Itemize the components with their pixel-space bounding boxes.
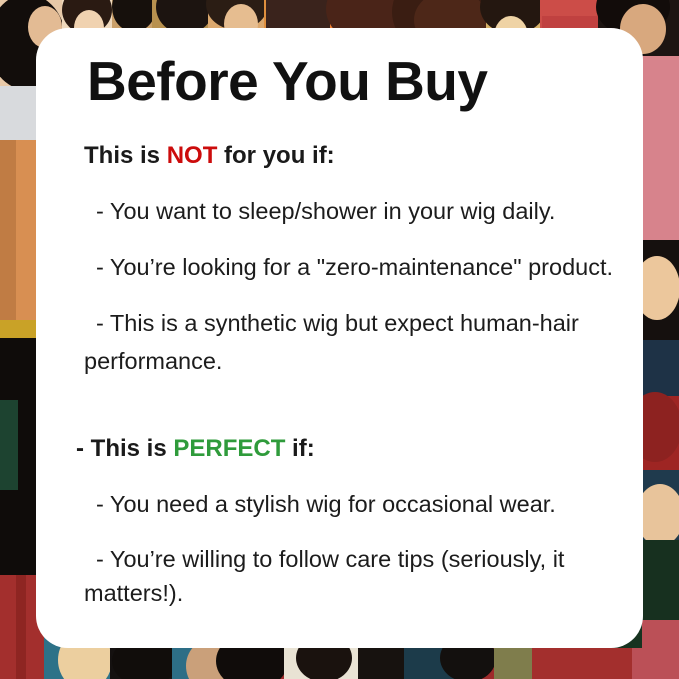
collage-left-gold	[0, 322, 40, 338]
perfect-heading-post: if:	[285, 435, 314, 462]
not-heading-pre: This is	[84, 142, 167, 169]
content-card: Before You Buy This is NOT for you if: -…	[36, 28, 643, 648]
not-keyword: NOT	[167, 142, 218, 169]
perfect-heading-pre: - This is	[76, 435, 173, 462]
perfect-bullet-1: - You need a stylish wig for occasional …	[84, 488, 619, 521]
collage-left-red-fold	[16, 575, 26, 679]
collage-left-green	[0, 400, 18, 490]
perfect-bullet-2: - You’re willing to follow care tips (se…	[84, 543, 619, 610]
perfect-section-heading: - This is PERFECT if:	[76, 434, 619, 464]
collage-coat-1-shadow	[0, 140, 16, 330]
not-bullet-1: - You want to sleep/shower in your wig d…	[84, 195, 619, 228]
not-bullet-3: - This is a synthetic wig but expect hum…	[84, 304, 619, 380]
not-heading-post: for you if:	[217, 142, 334, 169]
page-title: Before You Buy	[87, 50, 619, 113]
poster-canvas: Before You Buy This is NOT for you if: -…	[0, 0, 679, 679]
not-section-heading: This is NOT for you if:	[84, 141, 619, 171]
card-content: Before You Buy This is NOT for you if: -…	[84, 50, 619, 610]
perfect-keyword: PERFECT	[173, 435, 285, 462]
not-bullet-2: - You’re looking for a "zero-maintenance…	[84, 251, 619, 284]
